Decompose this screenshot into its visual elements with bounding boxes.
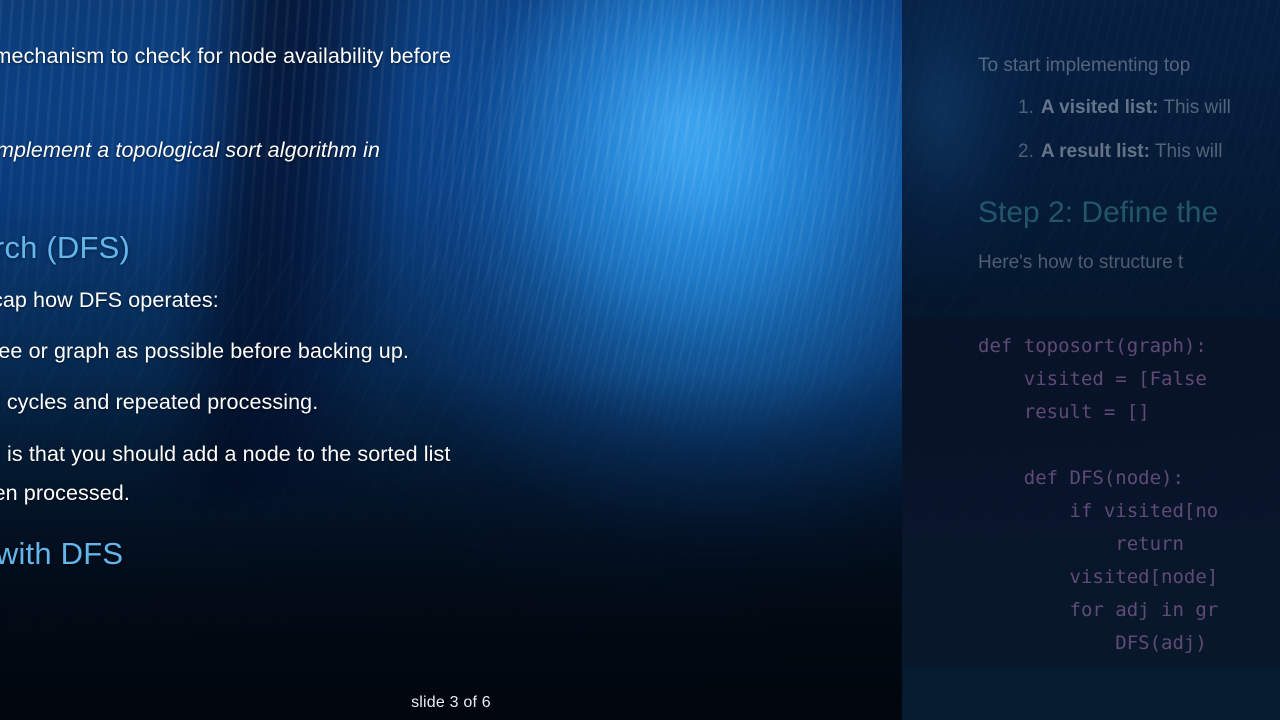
heading-data-structures: ... Data Structures [0, 600, 900, 632]
slide-content: ...mentation required a mechanism to che… [0, 46, 900, 632]
list-item-text: This will [1150, 141, 1223, 162]
body-line-3-italic: How can I implement a topological sort a… [0, 138, 380, 162]
next-subtitle-line: Here's how to structure t [978, 252, 1280, 274]
list-item-term: A visited list: [1041, 97, 1159, 118]
slide-counter: slide 3 of 6 [0, 694, 902, 712]
code-snippet: def toposort(graph): visited = [False re… [978, 330, 1218, 660]
body-line-2: ...orted list. [0, 86, 900, 108]
body-line-1: ...mentation required a mechanism to che… [0, 46, 900, 68]
body-line-3: ... question: How can I implement a topo… [0, 140, 900, 162]
presentation-viewer: ...mentation required a mechanism to che… [0, 0, 1280, 720]
next-heading-step-2: Step 2: Define the [978, 196, 1280, 230]
list-item-number: 1. [1018, 97, 1034, 118]
list-item-number: 2. [1018, 141, 1034, 162]
heading-depth-first-search: ...epth-First Search (DFS) [0, 230, 900, 266]
list-item-term: A result list: [1041, 141, 1150, 162]
current-slide[interactable]: ...mentation required a mechanism to che… [0, 0, 902, 720]
body-line-5: ...olution, let's briefly recap how DFS … [0, 290, 900, 312]
body-line-7: ...ed, is marked to avoid cycles and rep… [0, 392, 900, 414]
next-slide-content: To start implementing top 1.A visited li… [978, 56, 1280, 274]
list-item: 1.A visited list: This will [1018, 97, 1280, 119]
next-ordered-list: 1.A visited list: This will 2.A result l… [978, 97, 1280, 163]
body-line-4: ...ely? [0, 178, 900, 200]
code-block: def toposort(graph): visited = [False re… [902, 318, 1280, 666]
body-line-8: ... for topological sorting is that you … [0, 444, 900, 466]
next-intro-line: To start implementing top [978, 56, 1280, 75]
body-line-9: ... (or children) have been processed. [0, 483, 900, 505]
body-line-6: ...own a branch of the tree or graph as … [0, 341, 900, 363]
list-item: 2.A result list: This will [1018, 141, 1280, 163]
list-item-text: This will [1158, 97, 1231, 118]
heading-topological-sort-with-dfs: ...pological Sort with DFS [0, 536, 900, 572]
